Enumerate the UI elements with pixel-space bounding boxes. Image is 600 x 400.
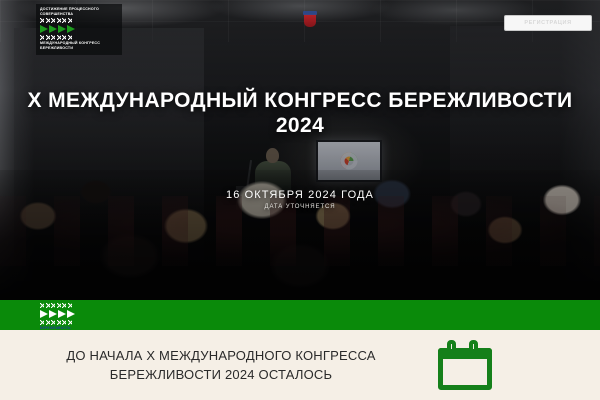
chevron-outline-icon (40, 35, 44, 40)
event-date: 16 ОКТЯБРЯ 2024 ГОДА (0, 188, 600, 202)
chevron-solid-icon (67, 25, 75, 33)
chevron-row-bottom (40, 35, 118, 40)
chevron-outline-icon (68, 18, 72, 23)
countdown-heading: ДО НАЧАЛА X МЕЖДУНАРОДНОГО КОНГРЕССА БЕР… (0, 346, 420, 384)
chevron-outline-icon (40, 320, 44, 325)
green-divider-bar: БЕРЕЖЛИВОСТЬ (0, 300, 600, 330)
chevron-outline-icon (51, 303, 55, 308)
calendar-icon (438, 340, 492, 390)
chevron-outline-icon (57, 320, 61, 325)
chevron-outline-icon (51, 320, 55, 325)
chevron-solid-icon (40, 25, 48, 33)
chevron-row-green (40, 24, 118, 33)
chevron-row-top (40, 303, 96, 308)
chevron-outline-icon (46, 18, 50, 23)
hero-text-block: X МЕЖДУНАРОДНЫЙ КОНГРЕСС БЕРЕЖЛИВОСТИ 20… (0, 88, 600, 138)
chevron-outline-icon (46, 303, 50, 308)
chevron-outline-icon (62, 303, 66, 308)
brand-name: МЕЖДУНАРОДНЫЙ КОНГРЕСС БЕРЕЖЛИВОСТИ (40, 41, 118, 51)
countdown-icon-wrap (420, 340, 600, 390)
chevron-outline-icon (62, 320, 66, 325)
chevron-outline-icon (57, 303, 61, 308)
chevron-outline-icon (62, 18, 66, 23)
chevron-outline-icon (57, 35, 61, 40)
brand-tagline: ДОСТИЖЕНИЕ ПРОЦЕССНОГО СОВЕРШЕНСТВА (40, 7, 118, 16)
chevron-solid-icon (67, 310, 75, 318)
calendar-ring-left (447, 340, 456, 353)
page-root: ДОСТИЖЕНИЕ ПРОЦЕССНОГО СОВЕРШЕНСТВА (0, 0, 600, 400)
chevron-solid-icon (58, 25, 66, 33)
chevron-outline-icon (51, 18, 55, 23)
emblem-shield (304, 14, 316, 27)
calendar-ring-right (469, 340, 478, 353)
chevron-solid-icon (49, 310, 57, 318)
registration-button[interactable]: РЕГИСТРАЦИЯ (504, 15, 592, 31)
chevron-outline-icon (40, 303, 44, 308)
chevron-row-top (40, 18, 118, 23)
coat-of-arms-emblem-icon (303, 9, 317, 29)
site-header: ДОСТИЖЕНИЕ ПРОЦЕССНОГО СОВЕРШЕНСТВА (0, 0, 600, 40)
hero-section: ДОСТИЖЕНИЕ ПРОЦЕССНОГО СОВЕРШЕНСТВА (0, 0, 600, 300)
chevron-outline-icon (46, 35, 50, 40)
chevron-outline-icon (51, 35, 55, 40)
chevron-solid-icon (40, 310, 48, 318)
chevron-outline-icon (68, 320, 72, 325)
chevron-outline-icon (40, 18, 44, 23)
chevron-row-white (40, 309, 96, 318)
chevron-row-bottom (40, 320, 96, 325)
countdown-section: ДО НАЧАЛА X МЕЖДУНАРОДНОГО КОНГРЕССА БЕР… (0, 330, 600, 400)
chevron-solid-icon (49, 25, 57, 33)
chevron-outline-icon (68, 35, 72, 40)
chevron-solid-icon (58, 310, 66, 318)
chevron-outline-icon (57, 18, 61, 23)
chevron-outline-icon (62, 35, 66, 40)
hero-date-block: 16 ОКТЯБРЯ 2024 ГОДА ДАТА УТОЧНЯЕТСЯ (0, 188, 600, 212)
chevron-outline-icon (46, 320, 50, 325)
event-date-note: ДАТА УТОЧНЯЕТСЯ (0, 203, 600, 212)
green-bar-logo[interactable]: БЕРЕЖЛИВОСТЬ (40, 301, 96, 330)
chevron-outline-icon (68, 303, 72, 308)
page-title: X МЕЖДУНАРОДНЫЙ КОНГРЕСС БЕРЕЖЛИВОСТИ 20… (26, 88, 574, 138)
green-bar-logo-caption: БЕРЕЖЛИВОСТЬ (40, 326, 96, 330)
brand-logo[interactable]: ДОСТИЖЕНИЕ ПРОЦЕССНОГО СОВЕРШЕНСТВА (36, 4, 122, 55)
emblem-banner (303, 11, 317, 15)
